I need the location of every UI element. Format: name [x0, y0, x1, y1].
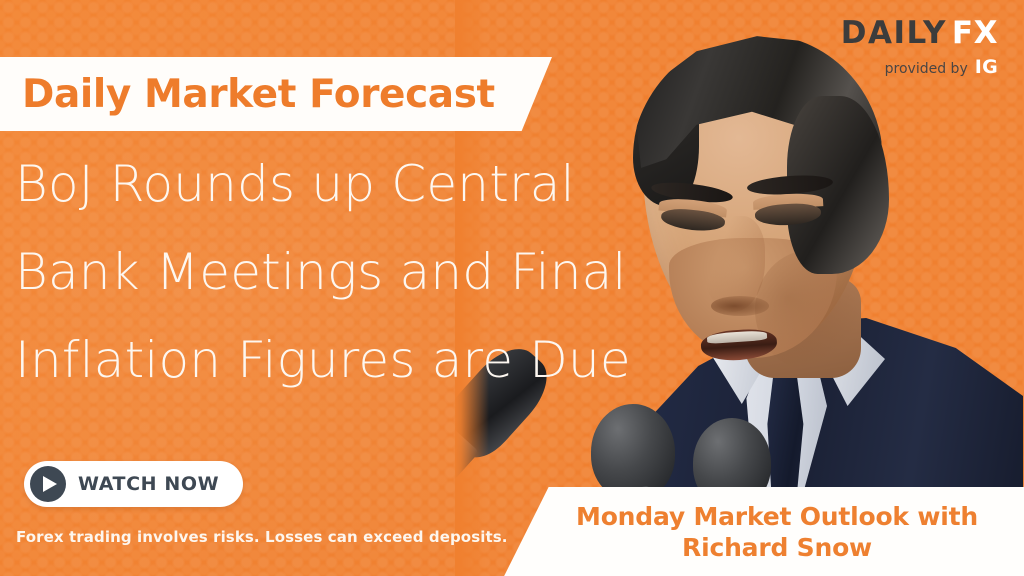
logo-provider-line: provided by IG	[841, 58, 998, 77]
risk-disclaimer: Forex trading involves risks. Losses can…	[16, 528, 508, 546]
play-icon[interactable]	[30, 466, 66, 502]
headline-line-3: Inflation Figures are Due	[15, 316, 675, 404]
logo-daily-text: DAILY	[841, 18, 947, 49]
headline-line-2: Bank Meetings and Final	[15, 228, 675, 316]
nostrils	[711, 296, 769, 316]
watch-now-label: WATCH NOW	[78, 473, 219, 495]
title-banner: Daily Market Forecast	[0, 57, 552, 131]
mic-grille	[591, 404, 675, 500]
headline-line-1: BoJ Rounds up Central	[15, 140, 675, 228]
logo-fx-text: FX	[952, 18, 998, 49]
subtitle-line-2: Richard Snow	[682, 534, 872, 561]
provided-by-label: provided by	[885, 62, 968, 76]
ig-logo-text: IG	[975, 58, 998, 77]
banner-title: Daily Market Forecast	[22, 75, 495, 114]
dailyfx-logo: DAILY FX provided by IG	[841, 18, 998, 77]
watch-now-button[interactable]: WATCH NOW	[24, 461, 243, 507]
play-triangle	[43, 476, 57, 492]
video-thumbnail: Daily Market Forecast BoJ Rounds up Cent…	[0, 0, 1024, 576]
headline: BoJ Rounds up Central Bank Meetings and …	[15, 140, 675, 404]
logo-wordmark: DAILY FX	[841, 18, 998, 49]
subtitle-line-1: Monday Market Outlook with	[576, 503, 978, 530]
subtitle-panel: Monday Market Outlook with Richard Snow	[468, 487, 1024, 576]
